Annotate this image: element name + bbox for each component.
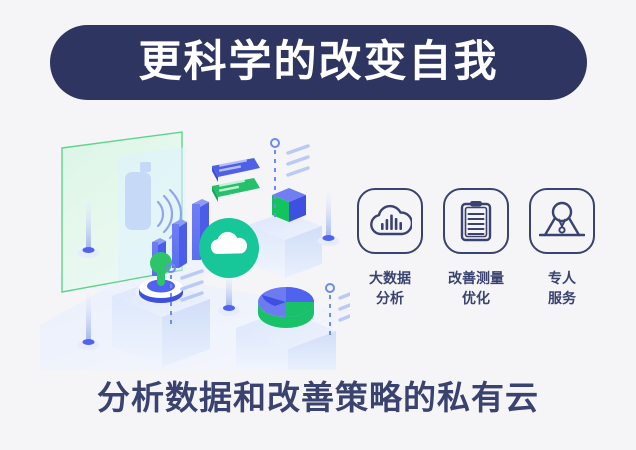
feature-label: 专人 服务: [548, 268, 576, 309]
feature-item-dedicated-service[interactable]: 专人 服务: [524, 188, 600, 309]
poster-canvas: 更科学的改变自我: [0, 0, 636, 450]
glass-pedestal-right-top: [248, 212, 322, 278]
service-person-icon: [529, 188, 595, 254]
tagline: 分析数据和改善策略的私有云: [0, 378, 636, 418]
title-banner: 更科学的改变自我: [50, 25, 587, 100]
cloud-bar-chart-icon: [357, 188, 423, 254]
feature-item-big-data-analysis[interactable]: 大数据 分析: [352, 188, 428, 309]
feature-label: 大数据 分析: [369, 268, 411, 309]
stem-marker-far-right: [318, 190, 340, 246]
clipboard-icon: [443, 188, 509, 254]
label-card-green: [212, 178, 260, 202]
page-title: 更科学的改变自我: [139, 41, 499, 84]
pie-chart-3d: [258, 287, 314, 328]
cube-3d: [272, 188, 306, 222]
feature-list: 大数据 分析 改善测量 优化: [352, 188, 600, 309]
feature-item-improvement-measurement[interactable]: 改善测量 优化: [438, 188, 514, 309]
feature-label: 改善测量 优化: [448, 268, 504, 309]
illustration-isometric-scene: [40, 120, 350, 370]
